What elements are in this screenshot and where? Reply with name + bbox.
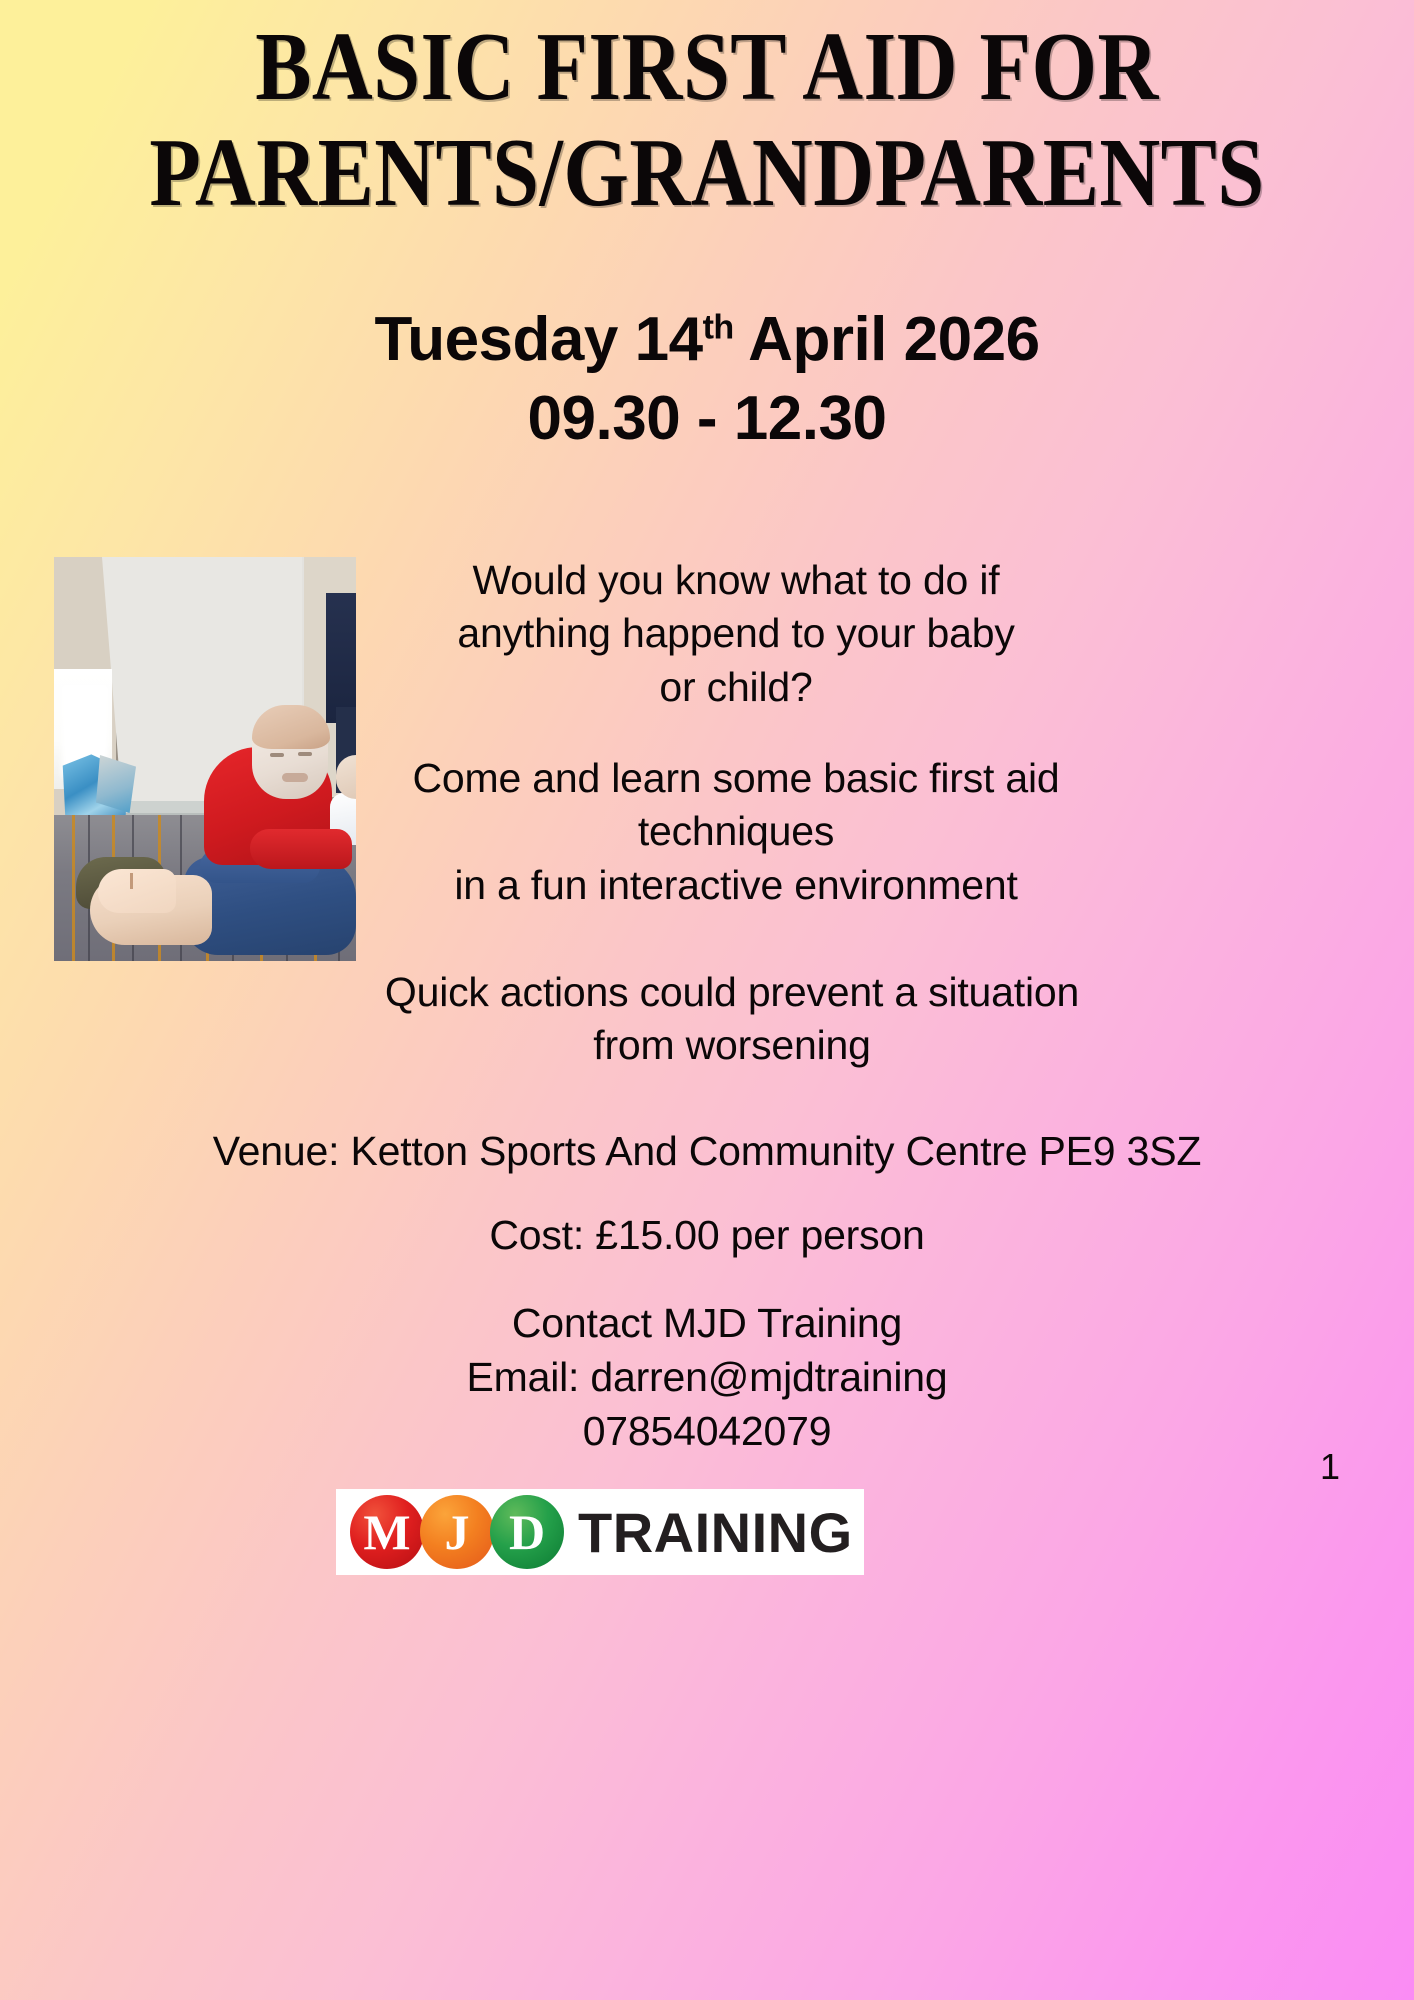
contact-organisation: Contact MJD Training — [0, 1296, 1414, 1350]
learn-line-2: techniques — [378, 805, 1094, 858]
contact-block: Contact MJD Training Email: darren@mjdtr… — [0, 1296, 1414, 1458]
intro-line-3: or child? — [378, 661, 1094, 714]
event-date-ordinal-suffix: th — [703, 308, 734, 346]
intro-line-1: Would you know what to do if — [378, 554, 1094, 607]
cost-text: Cost: £15.00 per person — [0, 1208, 1414, 1262]
logo-ball-j-icon: J — [420, 1495, 494, 1569]
photo-child-mannequin-mouth — [282, 773, 308, 782]
title-line-1: BASIC FIRST AID FOR — [99, 18, 1315, 118]
event-date-prefix: Tuesday 14 — [374, 305, 702, 374]
poster-canvas: BASIC FIRST AID FOR PARENTS/GRANDPARENTS… — [0, 0, 1414, 2000]
venue-text: Venue: Ketton Sports And Community Centr… — [0, 1124, 1414, 1178]
event-date-month-year: April 2026 — [734, 305, 1040, 374]
logo-ball-m-letter: M — [363, 1507, 410, 1557]
quick-actions-paragraph: Quick actions could prevent a situation … — [352, 966, 1112, 1073]
logo-ball-j-letter: J — [445, 1507, 470, 1557]
intro-paragraph: Would you know what to do if anything ha… — [378, 554, 1094, 714]
photo-carpet-stripe — [72, 815, 75, 961]
quick-actions-line-2: from worsening — [352, 1019, 1112, 1072]
title-line-2: PARENTS/GRANDPARENTS — [99, 124, 1315, 224]
event-date: Tuesday 14th April 2026 — [0, 300, 1414, 379]
learn-line-1: Come and learn some basic first aid — [378, 752, 1094, 805]
logo-wordmark: TRAINING — [578, 1500, 853, 1565]
learn-line-3: in a fun interactive environment — [378, 859, 1094, 912]
quick-actions-line-1: Quick actions could prevent a situation — [352, 966, 1112, 1019]
logo-ball-d-icon: D — [490, 1495, 564, 1569]
contact-email[interactable]: Email: darren@mjdtraining — [0, 1350, 1414, 1404]
event-time: 09.30 - 12.30 — [0, 379, 1414, 458]
page-number: 1 — [1320, 1446, 1340, 1488]
learn-paragraph: Come and learn some basic first aid tech… — [378, 752, 1094, 912]
photo-child-mannequin-eye-left — [270, 753, 284, 757]
training-photo — [54, 557, 356, 961]
logo-ball-m-icon: M — [350, 1495, 424, 1569]
event-date-block: Tuesday 14th April 2026 09.30 - 12.30 — [0, 300, 1414, 459]
intro-line-2: anything happend to your baby — [378, 607, 1094, 660]
page-title: BASIC FIRST AID FOR PARENTS/GRANDPARENTS — [0, 18, 1414, 224]
photo-adult-cpr-face — [98, 869, 176, 913]
logo-ball-d-letter: D — [509, 1507, 545, 1557]
contact-phone[interactable]: 07854042079 — [0, 1404, 1414, 1458]
photo-adult-cpr-seam — [130, 873, 133, 889]
mjd-training-logo: M J D TRAINING — [336, 1489, 864, 1575]
photo-chair — [326, 593, 356, 723]
photo-child-mannequin-eye-right — [298, 752, 312, 756]
photo-child-mannequin-arm — [250, 829, 352, 869]
